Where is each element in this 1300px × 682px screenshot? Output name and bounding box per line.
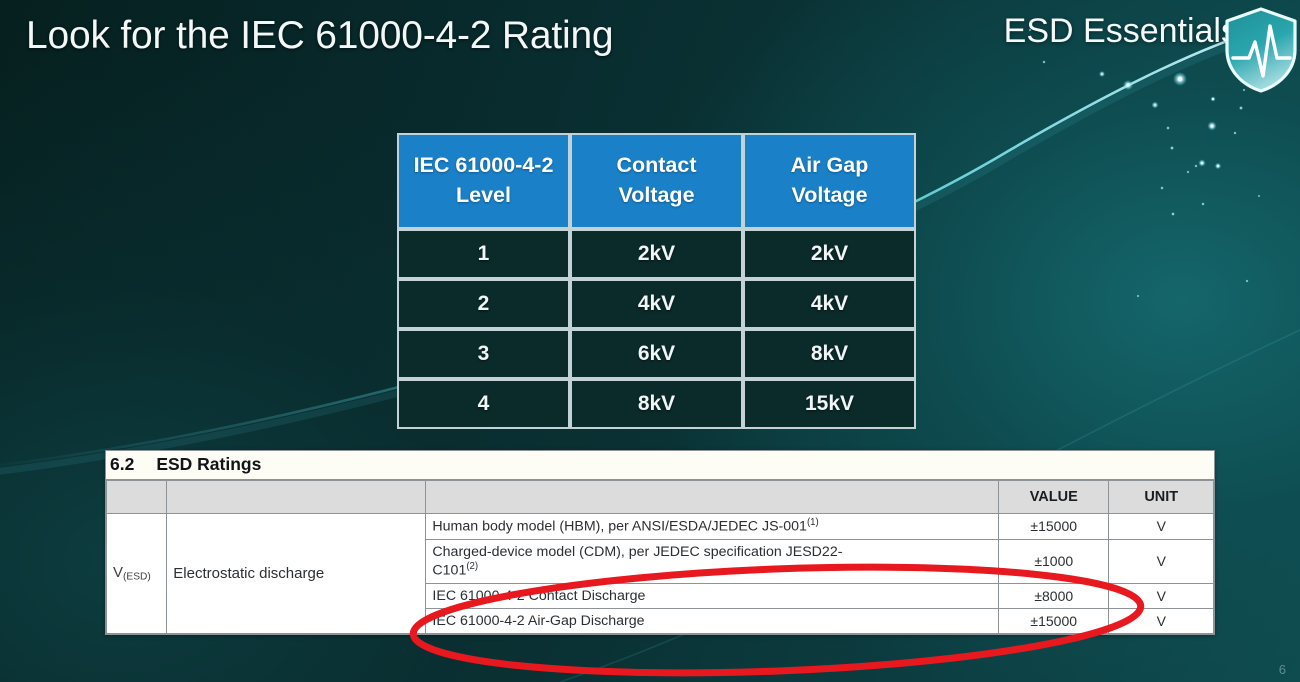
cell-value: ±1000	[999, 539, 1109, 583]
column-header-contact-line2: Voltage	[618, 183, 694, 207]
cell-contact-voltage: 6kV	[570, 329, 743, 379]
cell-level: 3	[397, 329, 570, 379]
cell-description: Charged-device model (CDM), per JEDEC sp…	[426, 539, 999, 583]
cell-airgap-voltage: 15kV	[743, 379, 916, 429]
cell-unit: V	[1109, 583, 1214, 608]
table-row: 4 8kV 15kV	[397, 379, 916, 429]
slide-canvas: Look for the IEC 61000-4-2 Rating ESD Es…	[0, 0, 1300, 682]
column-header-parameter	[167, 481, 426, 514]
column-header-airgap-line2: Voltage	[791, 183, 867, 207]
section-title-text: ESD Ratings	[156, 454, 261, 474]
column-header-symbol	[107, 481, 167, 514]
cell-contact-voltage: 4kV	[570, 279, 743, 329]
cell-unit: V	[1109, 609, 1214, 634]
column-header-contact-voltage: Contact Voltage	[570, 133, 743, 229]
cell-airgap-voltage: 2kV	[743, 229, 916, 279]
cell-contact-voltage: 2kV	[570, 229, 743, 279]
cell-description: Human body model (HBM), per ANSI/ESDA/JE…	[426, 514, 999, 540]
cell-level: 4	[397, 379, 570, 429]
cell-unit: V	[1109, 539, 1214, 583]
cell-value: ±15000	[999, 609, 1109, 634]
table-header-row: VALUE UNIT	[107, 481, 1214, 514]
column-header-level-line2: Level	[456, 183, 511, 207]
cell-description: IEC 61000-4-2 Contact Discharge	[426, 583, 999, 608]
cell-symbol: V(ESD)	[107, 514, 167, 634]
iec-level-table: IEC 61000-4-2 Level Contact Voltage Air …	[397, 133, 916, 429]
column-header-airgap-voltage: Air Gap Voltage	[743, 133, 916, 229]
cell-contact-voltage: 8kV	[570, 379, 743, 429]
table-row: V(ESD) Electrostatic discharge Human bod…	[107, 514, 1214, 540]
description-text: Human body model (HBM), per ANSI/ESDA/JE…	[432, 519, 807, 535]
page-number: 6	[1279, 662, 1286, 677]
footnote-marker: (2)	[466, 561, 478, 572]
description-text: Charged-device model (CDM), per JEDEC sp…	[432, 544, 842, 560]
table-row: 3 6kV 8kV	[397, 329, 916, 379]
column-header-description	[426, 481, 999, 514]
shield-pulse-icon	[1222, 6, 1300, 94]
cell-level: 2	[397, 279, 570, 329]
datasheet-excerpt: 6.2ESD Ratings VALUE UNIT	[105, 450, 1215, 635]
symbol-subscript: (ESD)	[123, 572, 151, 583]
cell-description: IEC 61000-4-2 Air-Gap Discharge	[426, 609, 999, 634]
column-header-level-line1: IEC 61000-4-2	[414, 153, 554, 177]
datasheet-section-title: 6.2ESD Ratings	[106, 451, 1214, 480]
column-header-unit: UNIT	[1109, 481, 1214, 514]
table-row: 2 4kV 4kV	[397, 279, 916, 329]
brand-lockup: ESD Essentials	[1004, 12, 1238, 51]
column-header-level: IEC 61000-4-2 Level	[397, 133, 570, 229]
cell-airgap-voltage: 8kV	[743, 329, 916, 379]
symbol-base: V	[113, 564, 123, 581]
cell-unit: V	[1109, 514, 1214, 540]
column-header-value: VALUE	[999, 481, 1109, 514]
page-title: Look for the IEC 61000-4-2 Rating	[26, 14, 613, 58]
cell-value: ±8000	[999, 583, 1109, 608]
description-text-line2: C101	[432, 563, 466, 579]
table-header-row: IEC 61000-4-2 Level Contact Voltage Air …	[397, 133, 916, 229]
section-number: 6.2	[110, 454, 134, 474]
cell-value: ±15000	[999, 514, 1109, 540]
column-header-airgap-line1: Air Gap	[791, 153, 869, 177]
footnote-marker: (1)	[807, 517, 819, 528]
column-header-contact-line1: Contact	[616, 153, 696, 177]
brand-label: ESD Essentials	[1004, 12, 1238, 51]
cell-airgap-voltage: 4kV	[743, 279, 916, 329]
slide-header: Look for the IEC 61000-4-2 Rating ESD Es…	[0, 0, 1300, 92]
table-row: 1 2kV 2kV	[397, 229, 916, 279]
cell-level: 1	[397, 229, 570, 279]
cell-parameter: Electrostatic discharge	[167, 514, 426, 634]
esd-ratings-table: VALUE UNIT V(ESD) Electrostatic discharg…	[106, 480, 1214, 634]
